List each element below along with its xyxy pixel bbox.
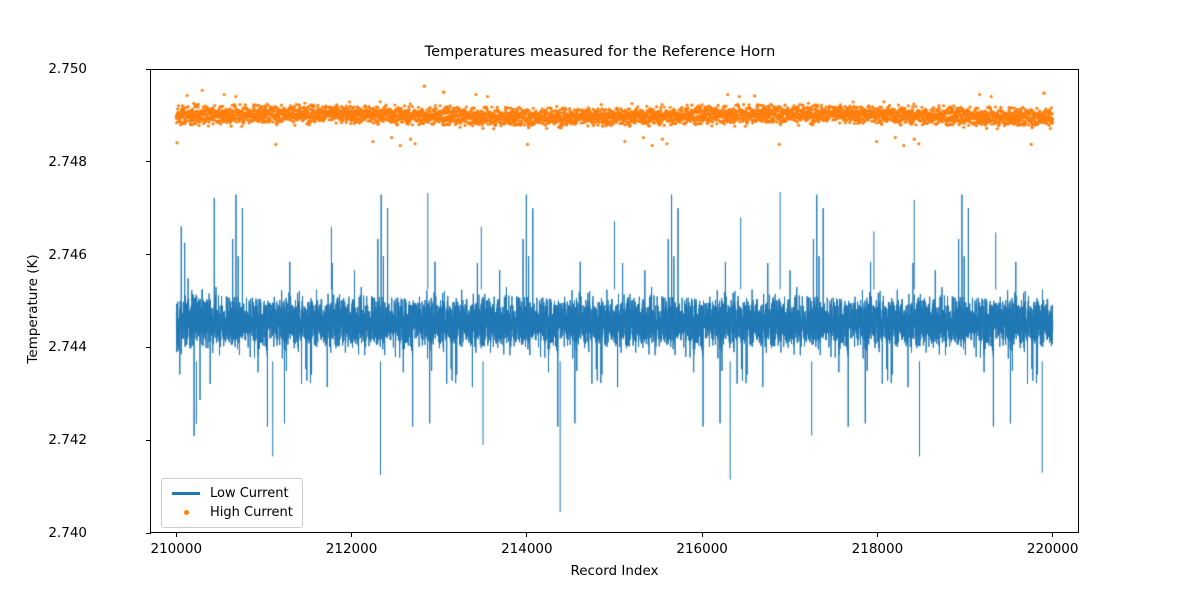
- legend-dot-icon: [169, 510, 203, 515]
- chart-legend[interactable]: Low Current High Current: [161, 478, 303, 528]
- legend-label-high-current: High Current: [210, 505, 293, 520]
- x-tick-label: 210000: [106, 541, 246, 557]
- legend-item-low-current: Low Current: [169, 484, 293, 503]
- chart-title: Temperatures measured for the Reference …: [0, 44, 1200, 60]
- plot-area: [150, 69, 1079, 533]
- legend-label-low-current: Low Current: [210, 486, 289, 501]
- y-tick-label: 2.742: [0, 432, 87, 448]
- y-tick-label: 2.744: [0, 339, 87, 355]
- x-tick-label: 212000: [282, 541, 422, 557]
- legend-line-icon: [169, 492, 203, 494]
- x-tick-label: 220000: [983, 541, 1123, 557]
- legend-item-high-current: High Current: [169, 503, 293, 522]
- y-tick-label: 2.746: [0, 247, 87, 263]
- x-tick-label: 218000: [807, 541, 947, 557]
- x-tick-label: 216000: [632, 541, 772, 557]
- x-axis-label: Record Index: [150, 563, 1079, 579]
- y-axis-label: Temperature (K): [25, 159, 41, 459]
- y-tick-label: 2.748: [0, 154, 87, 170]
- y-tick-label: 2.750: [0, 61, 87, 77]
- figure-canvas: Temperatures measured for the Reference …: [0, 0, 1200, 600]
- y-tick-label: 2.740: [0, 525, 87, 541]
- x-tick-label: 214000: [457, 541, 597, 557]
- series-plot-canvas: [151, 70, 1078, 532]
